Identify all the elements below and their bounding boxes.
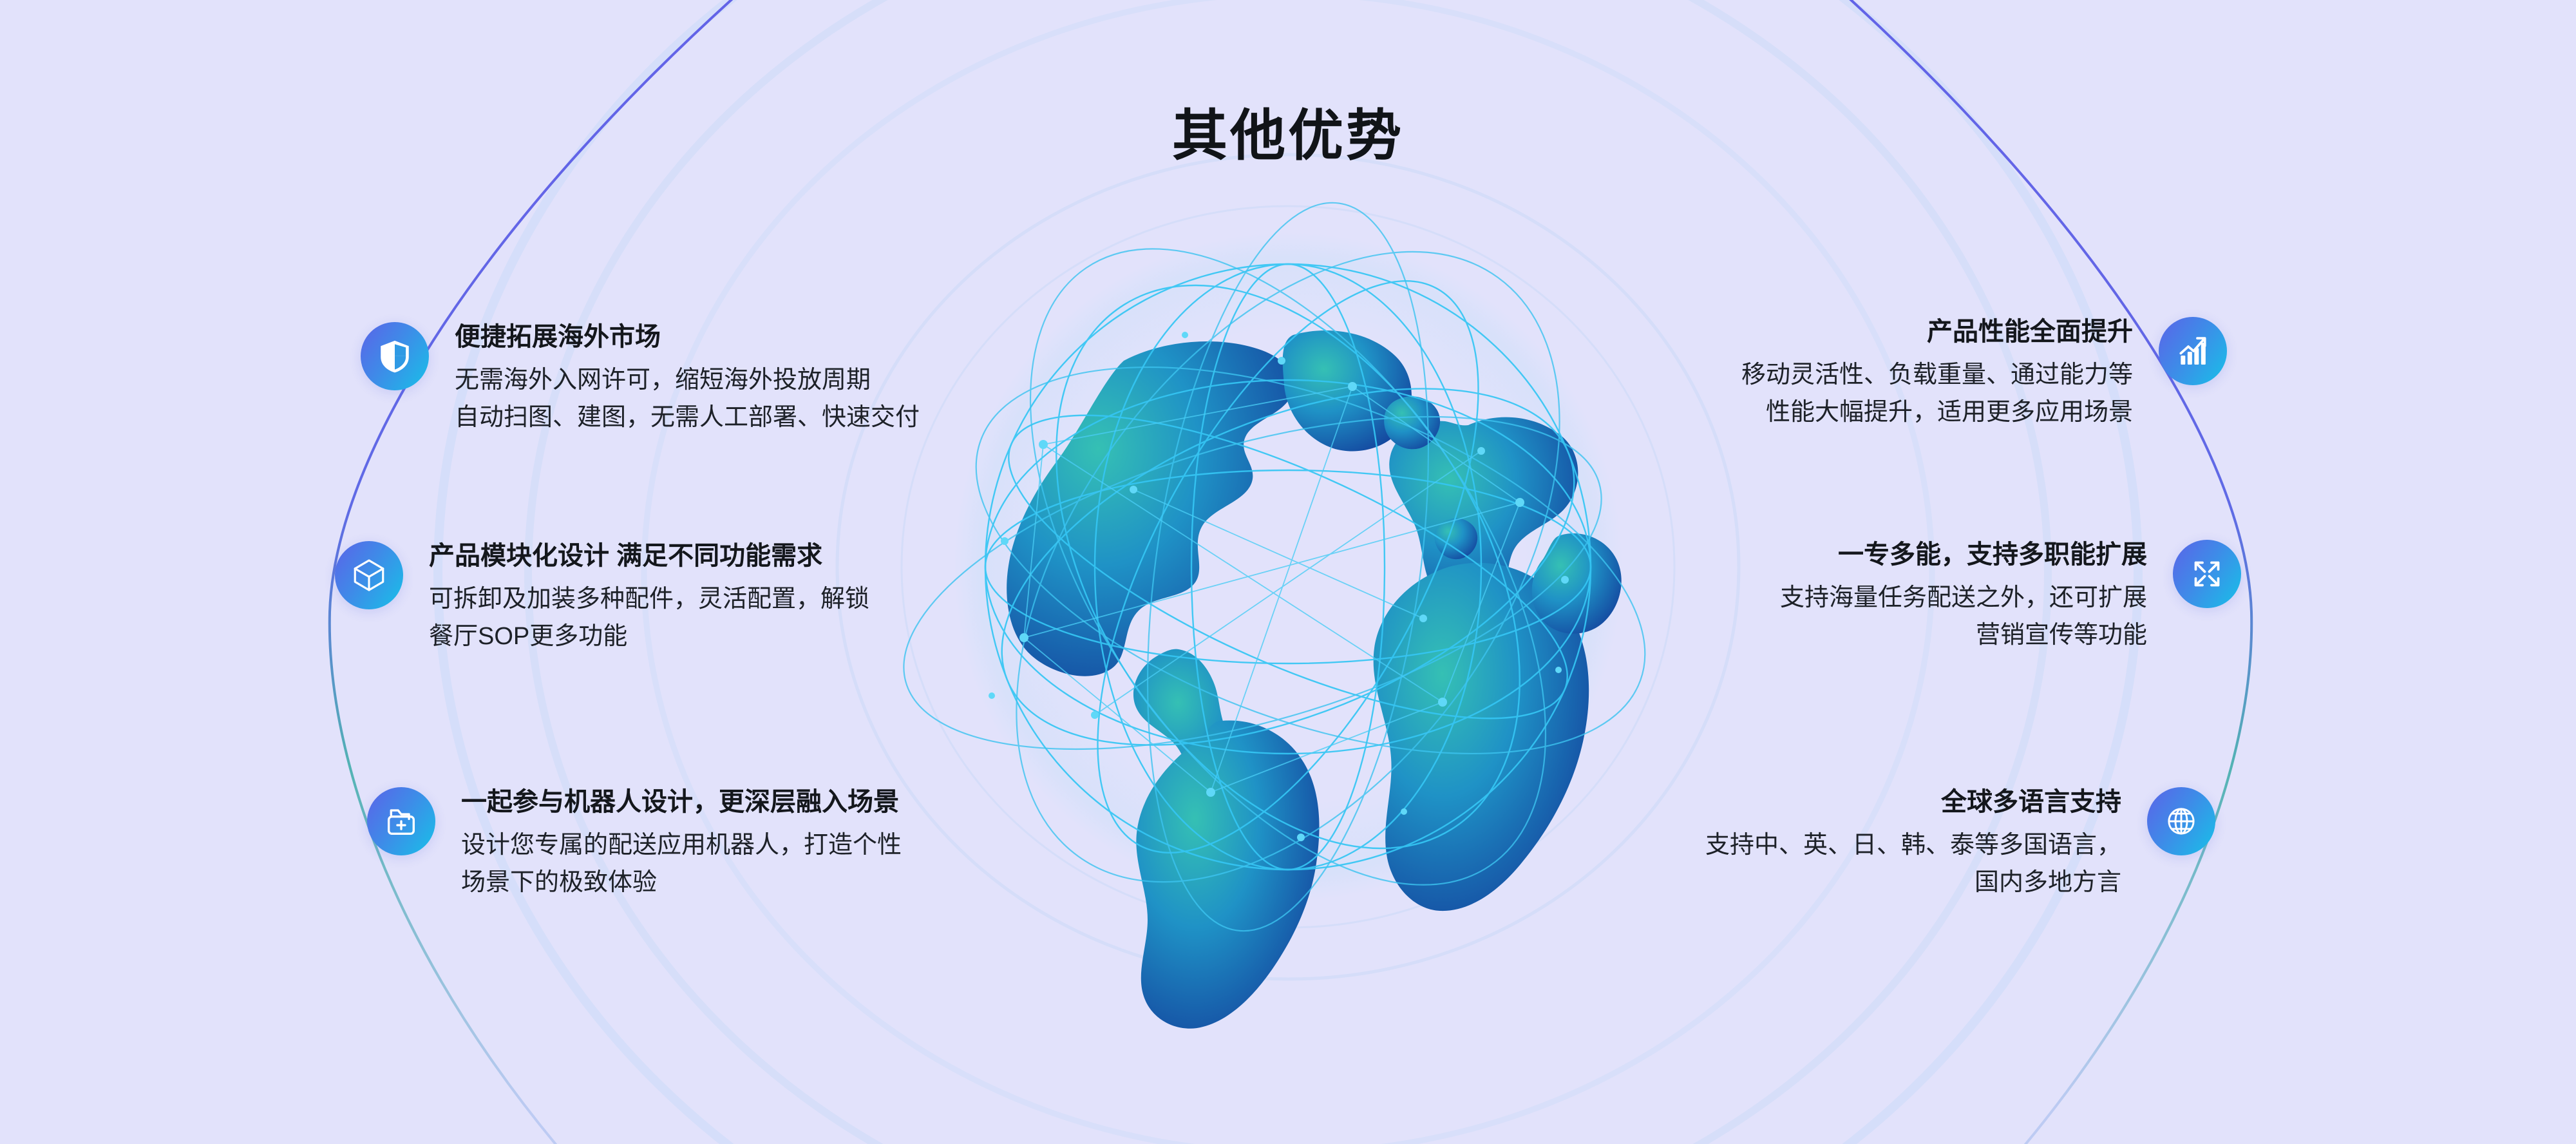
cube-icon-badge[interactable] — [335, 541, 403, 609]
shield-icon-badge[interactable] — [361, 322, 429, 390]
feature-line: 自动扫图、建图，无需人工部署、快速交付 — [455, 399, 920, 437]
feature-heading: 一专多能，支持多职能扩展 — [1838, 540, 2147, 569]
feature-heading: 产品模块化设计 满足不同功能需求 — [429, 541, 822, 571]
globe-mesh-chords — [1024, 386, 1520, 792]
globe-network-nodes — [989, 332, 1569, 841]
feature-text-block: 一专多能，支持多职能扩展 支持海量任务配送之外，还可扩展 营销宣传等功能 — [1780, 540, 2147, 654]
growth-chart-icon — [2175, 333, 2211, 369]
feature-line: 场景下的极致体验 — [461, 864, 657, 902]
globe-orbit-loops — [867, 153, 1695, 981]
globe-icon — [2164, 804, 2199, 839]
feature-line: 可拆卸及加装多种配件，灵活配置，解锁 — [429, 581, 869, 618]
feature-line: 国内多地方言 — [1975, 864, 2121, 902]
cube-icon — [350, 557, 388, 594]
expand-arrows-icon — [2189, 556, 2225, 592]
globe-landmasses — [1007, 330, 1622, 1029]
growth-chart-icon-badge[interactable] — [2159, 317, 2227, 385]
feature-text-block: 便捷拓展海外市场 无需海外入网许可，缩短海外投放周期 自动扫图、建图，无需人工部… — [455, 322, 920, 437]
feature-line: 支持中、英、日、韩、泰等多国语言， — [1705, 827, 2121, 864]
feature-text-block: 产品性能全面提升 移动灵活性、负载重量、通过能力等 性能大幅提升，适用更多应用场… — [1741, 317, 2133, 432]
feature-line: 无需海外入网许可，缩短海外投放周期 — [455, 362, 871, 399]
feature-co-design[interactable]: 一起参与机器人设计，更深层融入场景 设计您专属的配送应用机器人，打造个性 场景下… — [367, 787, 902, 902]
feature-performance-upgrade[interactable]: 产品性能全面提升 移动灵活性、负载重量、通过能力等 性能大幅提升，适用更多应用场… — [1741, 317, 2227, 432]
feature-text-block: 全球多语言支持 支持中、英、日、韩、泰等多国语言， 国内多地方言 — [1705, 787, 2121, 902]
globe-icon-badge[interactable] — [2147, 787, 2215, 855]
feature-line: 性能大幅提升，适用更多应用场景 — [1766, 394, 2133, 432]
feature-line: 营销宣传等功能 — [1976, 617, 2147, 654]
feature-multi-role[interactable]: 一专多能，支持多职能扩展 支持海量任务配送之外，还可扩展 营销宣传等功能 — [1780, 540, 2241, 654]
globe-network-lines — [952, 202, 1624, 931]
folder-plus-icon — [383, 803, 420, 840]
feature-text-block: 一起参与机器人设计，更深层融入场景 设计您专属的配送应用机器人，打造个性 场景下… — [461, 787, 902, 902]
feature-line: 餐厅SOP更多功能 — [429, 618, 627, 656]
feature-line: 支持海量任务配送之外，还可扩展 — [1780, 580, 2147, 617]
shield-icon — [376, 338, 413, 375]
feature-overseas-market[interactable]: 便捷拓展海外市场 无需海外入网许可，缩短海外投放周期 自动扫图、建图，无需人工部… — [361, 322, 920, 437]
feature-line: 设计您专属的配送应用机器人，打造个性 — [461, 827, 902, 864]
page-title: 其他优势 — [0, 108, 2576, 164]
feature-heading: 产品性能全面提升 — [1927, 317, 2133, 347]
folder-plus-icon-badge[interactable] — [367, 787, 435, 855]
feature-heading: 便捷拓展海外市场 — [455, 322, 661, 352]
feature-text-block: 产品模块化设计 满足不同功能需求 可拆卸及加装多种配件，灵活配置，解锁 餐厅SO… — [429, 541, 869, 656]
feature-line: 移动灵活性、负载重量、通过能力等 — [1741, 357, 2133, 394]
feature-multi-language[interactable]: 全球多语言支持 支持中、英、日、韩、泰等多国语言， 国内多地方言 — [1705, 787, 2215, 902]
feature-heading: 一起参与机器人设计，更深层融入场景 — [461, 787, 899, 817]
expand-arrows-icon-badge[interactable] — [2173, 540, 2241, 608]
advantages-infographic: 其他优势 便捷拓展海外市场 无需海外入网许可，缩短海外投放周期 自动扫图、建图，… — [0, 0, 2576, 1144]
feature-modular-design[interactable]: 产品模块化设计 满足不同功能需求 可拆卸及加装多种配件，灵活配置，解锁 餐厅SO… — [335, 541, 869, 656]
globe-illustration — [867, 153, 1695, 1029]
feature-heading: 全球多语言支持 — [1941, 787, 2121, 817]
